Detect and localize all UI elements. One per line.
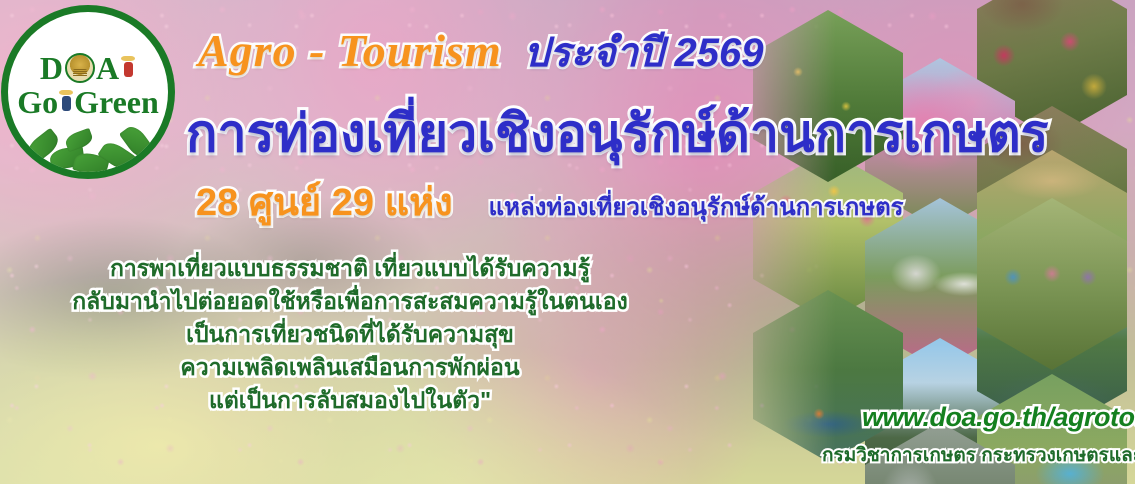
body-line-4: ความเพลิดเพลินเสมือนการพักผ่อน: [0, 351, 700, 384]
website-url[interactable]: www.doa.go.th/agrotour: [862, 404, 1135, 431]
logo-letter-d: D: [40, 52, 64, 84]
doa-seal-icon: [65, 53, 95, 83]
organization-label: กรมวิชาการเกษตร กระทรวงเกษตรและสหกรณ์: [822, 446, 1135, 465]
farmer-figure-icon: [120, 55, 136, 81]
headline-year: ประจำปี 2569: [524, 33, 764, 73]
logo-text-doa: D A: [40, 52, 136, 84]
body-line-2: กลับมานำไปต่อยอดใช้หรือเพื่อการสะสมความร…: [0, 285, 700, 318]
agro-tourism-banner: หลากหลายวิชชา อดิโการพฤ D A Go Green: [0, 0, 1135, 484]
headline-english: Agro - Tourism: [198, 28, 502, 74]
center-count-badge: 28 ศูนย์ 29 แห่ง: [196, 184, 453, 222]
subtitle-label: แหล่งท่องเที่ยวเชิงอนุรักษ์ด้านการเกษตร: [489, 196, 904, 220]
body-copy: การพาเที่ยวแบบธรรมชาติ เที่ยวแบบได้รับคว…: [0, 252, 700, 417]
page-title: การท่องเที่ยวเชิงอนุรักษ์ด้านการเกษตร: [186, 105, 1049, 163]
body-line-5: แต่เป็นการลับสมองไปในตัว": [0, 384, 700, 417]
doa-go-green-logo: D A Go Green: [8, 12, 168, 172]
logo-leaf-decoration: [8, 112, 168, 172]
body-line-1: การพาเที่ยวแบบธรรมชาติ เที่ยวแบบได้รับคว…: [0, 252, 700, 285]
headline-row: Agro - Tourism ประจำปี 2569: [198, 28, 763, 74]
body-line-3: เป็นการเที่ยวชนิดที่ได้รับความสุข: [0, 318, 700, 351]
logo-letter-a: A: [96, 52, 120, 84]
subtitle-row: 28 ศูนย์ 29 แห่ง แหล่งท่องเที่ยวเชิงอนุร…: [196, 184, 904, 222]
